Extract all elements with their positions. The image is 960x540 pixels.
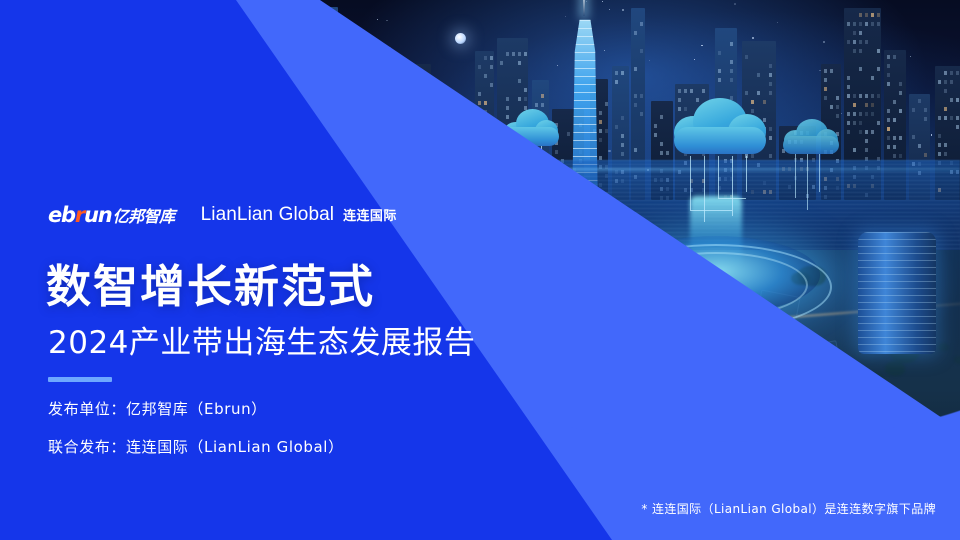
- ebrun-accent-letter: r: [75, 203, 84, 227]
- co-publisher-line: 联合发布：连连国际（LianLian Global）: [48, 436, 344, 457]
- ebrun-logo-cn: 亿邦智库: [113, 203, 175, 227]
- lianlian-logo-en: LianLian Global: [201, 204, 335, 226]
- publisher-info: 发布单位：亿邦智库（Ebrun） 联合发布：连连国际（LianLian Glob…: [48, 398, 344, 474]
- logo-row: ebrun 亿邦智库 LianLian Global 连连国际: [48, 203, 397, 227]
- publisher-line: 发布单位：亿邦智库（Ebrun）: [48, 398, 344, 419]
- footnote: * 连连国际（LianLian Global）是连连数字旗下品牌: [0, 500, 936, 517]
- page-subtitle: 2024产业带出海生态发展报告: [48, 317, 475, 362]
- lianlian-global-logo: LianLian Global 连连国际: [201, 204, 397, 226]
- page-title: 数智增长新范式: [46, 250, 375, 315]
- report-cover-slide: ebrun 亿邦智库 LianLian Global 连连国际 数智增长新范式 …: [0, 0, 960, 540]
- lianlian-logo-cn: 连连国际: [343, 205, 397, 224]
- divider-bar: [48, 377, 112, 382]
- ebrun-wordmark: ebrun: [48, 203, 112, 227]
- cover-content: ebrun 亿邦智库 LianLian Global 连连国际 数智增长新范式 …: [0, 0, 960, 540]
- ebrun-logo: ebrun 亿邦智库: [48, 203, 175, 227]
